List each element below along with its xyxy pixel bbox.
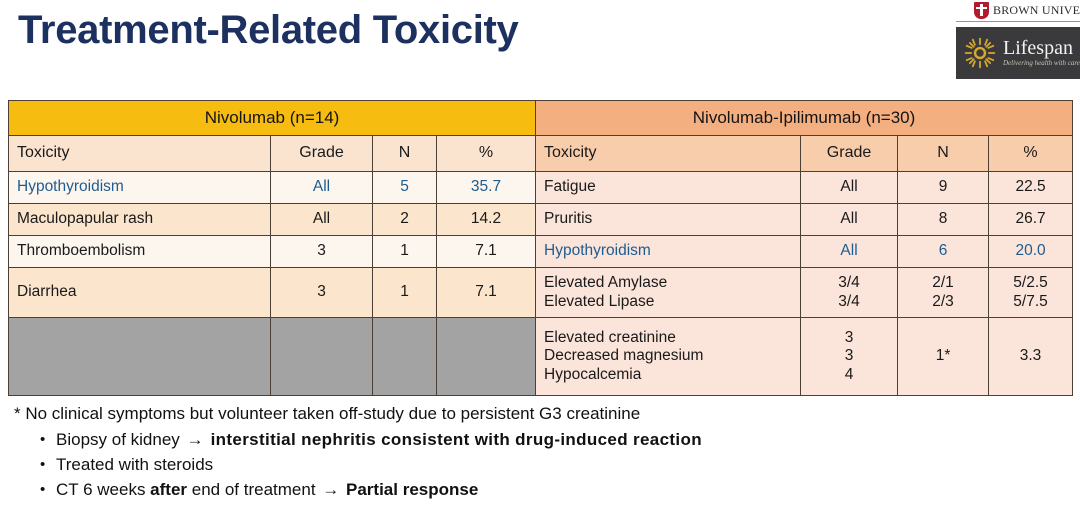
- cell-line: 3: [809, 329, 889, 347]
- cell-left-n: 5: [373, 172, 437, 204]
- bullet-text-post: interstitial nephritis consistent with d…: [206, 430, 702, 449]
- cell-line: Elevated creatinine: [544, 329, 792, 347]
- cell-left-pct: 14.2: [437, 204, 536, 236]
- cell-line: Elevated Lipase: [544, 293, 792, 311]
- cell-left-toxicity: Maculopapular rash: [9, 204, 271, 236]
- brown-university-logo: BROWN UNIVERS: [956, 0, 1080, 22]
- cell-line: 5/7.5: [997, 293, 1064, 311]
- lifespan-tagline: Delivering health with care: [1003, 58, 1080, 68]
- col-header-left-pct: %: [437, 136, 536, 172]
- cell-right-n: 6: [898, 236, 989, 268]
- cell-left-grade: 3: [271, 268, 373, 318]
- table-row: Elevated creatinine Decreased magnesium …: [9, 318, 1073, 396]
- cell-right-pct: 5/2.5 5/7.5: [989, 268, 1073, 318]
- arrow-icon: →: [185, 430, 206, 449]
- cell-left-grade: All: [271, 204, 373, 236]
- cell-left-pct: 7.1: [437, 236, 536, 268]
- sunburst-icon: [964, 37, 996, 69]
- footnote-asterisk: * No clinical symptoms but volunteer tak…: [14, 401, 1064, 426]
- cell-right-n: 8: [898, 204, 989, 236]
- cell-line: 2/3: [906, 293, 980, 311]
- brown-shield-icon: [974, 2, 989, 19]
- table-group-header-row: Nivolumab (n=14) Nivolumab-Ipilimumab (n…: [9, 101, 1073, 136]
- cell-left-empty: [9, 318, 271, 396]
- cell-line: Decreased magnesium: [544, 347, 792, 365]
- footnote-block: * No clinical symptoms but volunteer tak…: [14, 401, 1064, 502]
- cell-line: 2/1: [906, 274, 980, 292]
- cell-right-toxicity: Hypothyroidism: [536, 236, 801, 268]
- list-item: Biopsy of kidney → interstitial nephriti…: [14, 427, 1064, 452]
- cell-left-pct: 35.7: [437, 172, 536, 204]
- cell-right-n: 2/1 2/3: [898, 268, 989, 318]
- col-header-right-n: N: [898, 136, 989, 172]
- table-row: Diarrhea 3 1 7.1 Elevated Amylase Elevat…: [9, 268, 1073, 318]
- cell-right-n: 9: [898, 172, 989, 204]
- cell-line: Hypocalcemia: [544, 366, 792, 384]
- bullet-text-post: Partial response: [341, 480, 478, 499]
- cell-right-grade: All: [801, 236, 898, 268]
- list-item: Treated with steroids: [14, 452, 1064, 477]
- cell-left-n: 1: [373, 236, 437, 268]
- col-header-right-toxicity: Toxicity: [536, 136, 801, 172]
- brown-university-label: BROWN UNIVERS: [993, 3, 1080, 18]
- cell-left-toxicity: Diarrhea: [9, 268, 271, 318]
- bullet-text-pre: CT 6 weeks: [56, 480, 150, 499]
- arrow-icon: →: [320, 480, 341, 499]
- cell-left-n: 1: [373, 268, 437, 318]
- cell-left-toxicity: Thromboembolism: [9, 236, 271, 268]
- lifespan-name: Lifespan: [1003, 38, 1080, 58]
- table-row: Hypothyroidism All 5 35.7 Fatigue All 9 …: [9, 172, 1073, 204]
- list-item: CT 6 weeks after end of treatment → Part…: [14, 477, 1064, 502]
- cell-right-toxicity: Pruritis: [536, 204, 801, 236]
- cell-left-pct: 7.1: [437, 268, 536, 318]
- col-header-right-pct: %: [989, 136, 1073, 172]
- cell-line: 3: [809, 347, 889, 365]
- cell-left-n: 2: [373, 204, 437, 236]
- cell-left-grade: All: [271, 172, 373, 204]
- bullet-text-pre: Biopsy of kidney: [56, 430, 185, 449]
- cell-right-toxicity: Elevated creatinine Decreased magnesium …: [536, 318, 801, 396]
- col-header-left-toxicity: Toxicity: [9, 136, 271, 172]
- cell-line: 5/2.5: [997, 274, 1064, 292]
- cell-right-toxicity: Elevated Amylase Elevated Lipase: [536, 268, 801, 318]
- table-row: Maculopapular rash All 2 14.2 Pruritis A…: [9, 204, 1073, 236]
- cell-right-pct: 22.5: [989, 172, 1073, 204]
- col-header-left-n: N: [373, 136, 437, 172]
- group-header-nivolumab: Nivolumab (n=14): [9, 101, 536, 136]
- bullet-text-mid-bold: after: [150, 480, 187, 499]
- table-column-header-row: Toxicity Grade N % Toxicity Grade N %: [9, 136, 1073, 172]
- col-header-left-grade: Grade: [271, 136, 373, 172]
- cell-left-grade: 3: [271, 236, 373, 268]
- cell-line: 3/4: [809, 274, 889, 292]
- col-header-right-grade: Grade: [801, 136, 898, 172]
- toxicity-table: Nivolumab (n=14) Nivolumab-Ipilimumab (n…: [8, 100, 1073, 396]
- cell-line: Elevated Amylase: [544, 274, 792, 292]
- cell-left-empty: [373, 318, 437, 396]
- logo-group: BROWN UNIVERS: [956, 0, 1080, 79]
- lifespan-logo: Lifespan Delivering health with care: [956, 27, 1080, 79]
- cell-right-toxicity: Fatigue: [536, 172, 801, 204]
- cell-right-grade: 3 3 4: [801, 318, 898, 396]
- cell-right-n: 1*: [898, 318, 989, 396]
- bullet-text-pre: Treated with steroids: [56, 455, 213, 474]
- cell-right-grade: All: [801, 204, 898, 236]
- cell-left-toxicity: Hypothyroidism: [9, 172, 271, 204]
- cell-left-empty: [271, 318, 373, 396]
- cell-left-empty: [437, 318, 536, 396]
- table-row: Thromboembolism 3 1 7.1 Hypothyroidism A…: [9, 236, 1073, 268]
- cell-right-pct: 3.3: [989, 318, 1073, 396]
- cell-line: 3/4: [809, 293, 889, 311]
- bullet-list: Biopsy of kidney → interstitial nephriti…: [14, 427, 1064, 502]
- cell-right-pct: 26.7: [989, 204, 1073, 236]
- cell-right-pct: 20.0: [989, 236, 1073, 268]
- bullet-text-mid-tail: end of treatment: [187, 480, 320, 499]
- page-title: Treatment-Related Toxicity: [18, 8, 518, 53]
- cell-right-grade: All: [801, 172, 898, 204]
- cell-line: 4: [809, 366, 889, 384]
- group-header-nivolumab-ipilimumab: Nivolumab-Ipilimumab (n=30): [536, 101, 1073, 136]
- cell-right-grade: 3/4 3/4: [801, 268, 898, 318]
- lifespan-wordmark: Lifespan Delivering health with care: [1003, 38, 1080, 68]
